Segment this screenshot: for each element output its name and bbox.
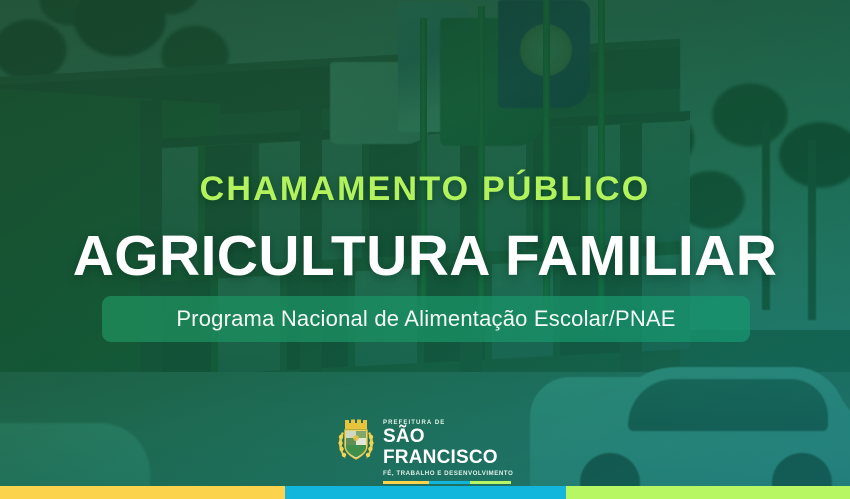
headline-text: AGRICULTURA FAMILIAR [0,228,850,285]
logo-bar-yellow [383,481,429,484]
logo-line-slogan: FÉ, TRABALHO E DESENVOLVIMENTO [383,471,514,477]
promotional-banner: CHAMAMENTO PÚBLICO AGRICULTURA FAMILIAR … [0,0,850,499]
banner-content: CHAMAMENTO PÚBLICO AGRICULTURA FAMILIAR … [0,0,850,499]
logo-bar-green [470,481,511,484]
footer-bar-cyan [285,486,566,499]
footer-color-bar [0,486,850,499]
footer-bar-yellow [0,486,285,499]
subtitle-pill: Programa Nacional de Alimentação Escolar… [102,296,750,342]
city-logo: PREFEITURA DE SÃO FRANCISCO FÉ, TRABALHO… [336,418,514,470]
logo-accent-bar [383,481,511,484]
logo-bar-cyan [429,481,470,484]
logo-line-city: SÃO FRANCISCO [383,426,514,469]
coat-of-arms-icon [336,418,376,464]
subtitle-text: Programa Nacional de Alimentação Escolar… [176,306,675,332]
footer-bar-green [566,486,850,499]
kicker-text: CHAMAMENTO PÚBLICO [0,172,850,206]
logo-wordmark: PREFEITURA DE SÃO FRANCISCO FÉ, TRABALHO… [383,418,514,484]
